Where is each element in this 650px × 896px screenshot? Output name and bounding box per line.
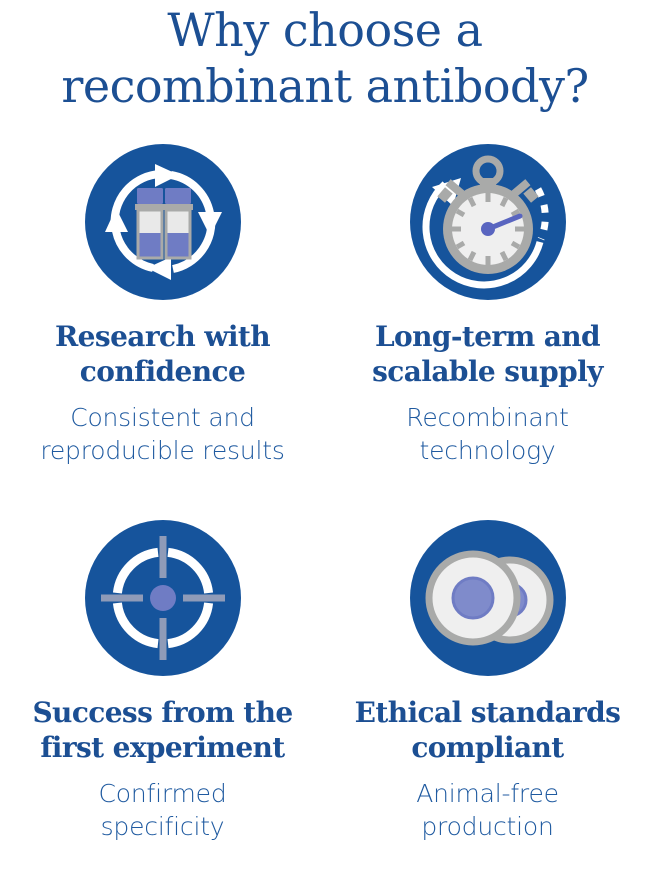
feature-card-ethical-standards-compliant: Ethical standards compliant Animal-free … [325,514,650,896]
feature-subtext-line-2: reproducible results [40,434,284,467]
stopwatch-icon [410,144,566,300]
feature-subtext-line-2: production [416,810,559,843]
page-title-line-2: recombinant antibody? [0,58,650,114]
page-title: Why choose a recombinant antibody? [0,2,650,114]
feature-heading: Long-term and scalable supply [370,319,605,389]
infographic-page: Why choose a recombinant antibody? [0,0,650,889]
feature-subtext-line-1: Animal-free [416,777,559,810]
feature-card-long-term-and-scalable-supply: Long-term and scalable supply Recombinan… [325,132,650,514]
feature-subtext-line-2: specificity [99,810,227,843]
feature-subtext-line-1: Consistent and [40,401,284,434]
feature-heading-line-2: first experiment [32,730,292,765]
feature-card-success-from-the-first-experiment: Success from the first experiment Confir… [0,514,325,896]
feature-grid: Research with confidence Consistent and … [0,132,650,896]
feature-heading-line-2: scalable supply [372,354,603,389]
feature-heading-line-1: Long-term and [372,319,603,354]
feature-heading-line-1: Success from the [32,695,292,730]
feature-subtext-line-2: technology [406,434,568,467]
crosshair-target-icon [85,520,241,676]
feature-heading-line-2: compliant [355,730,621,765]
feature-card-research-with-confidence: Research with confidence Consistent and … [0,132,325,514]
feature-subtext-line-1: Confirmed [99,777,227,810]
feature-heading: Success from the first experiment [30,695,294,765]
feature-heading-line-2: confidence [55,354,270,389]
feature-subtext: Animal-free production [412,777,563,843]
feature-heading-line-1: Ethical standards [355,695,621,730]
feature-subtext: Confirmed specificity [95,777,231,843]
feature-subtext: Consistent and reproducible results [36,401,288,467]
feature-heading: Ethical standards compliant [353,695,623,765]
feature-subtext-line-1: Recombinant [406,401,568,434]
test-tubes-cycle-icon [85,144,241,300]
feature-subtext: Recombinant technology [402,401,572,467]
feature-heading: Research with confidence [53,319,272,389]
page-title-line-1: Why choose a [0,2,650,58]
feature-heading-line-1: Research with [55,319,270,354]
cells-icon [410,520,566,676]
